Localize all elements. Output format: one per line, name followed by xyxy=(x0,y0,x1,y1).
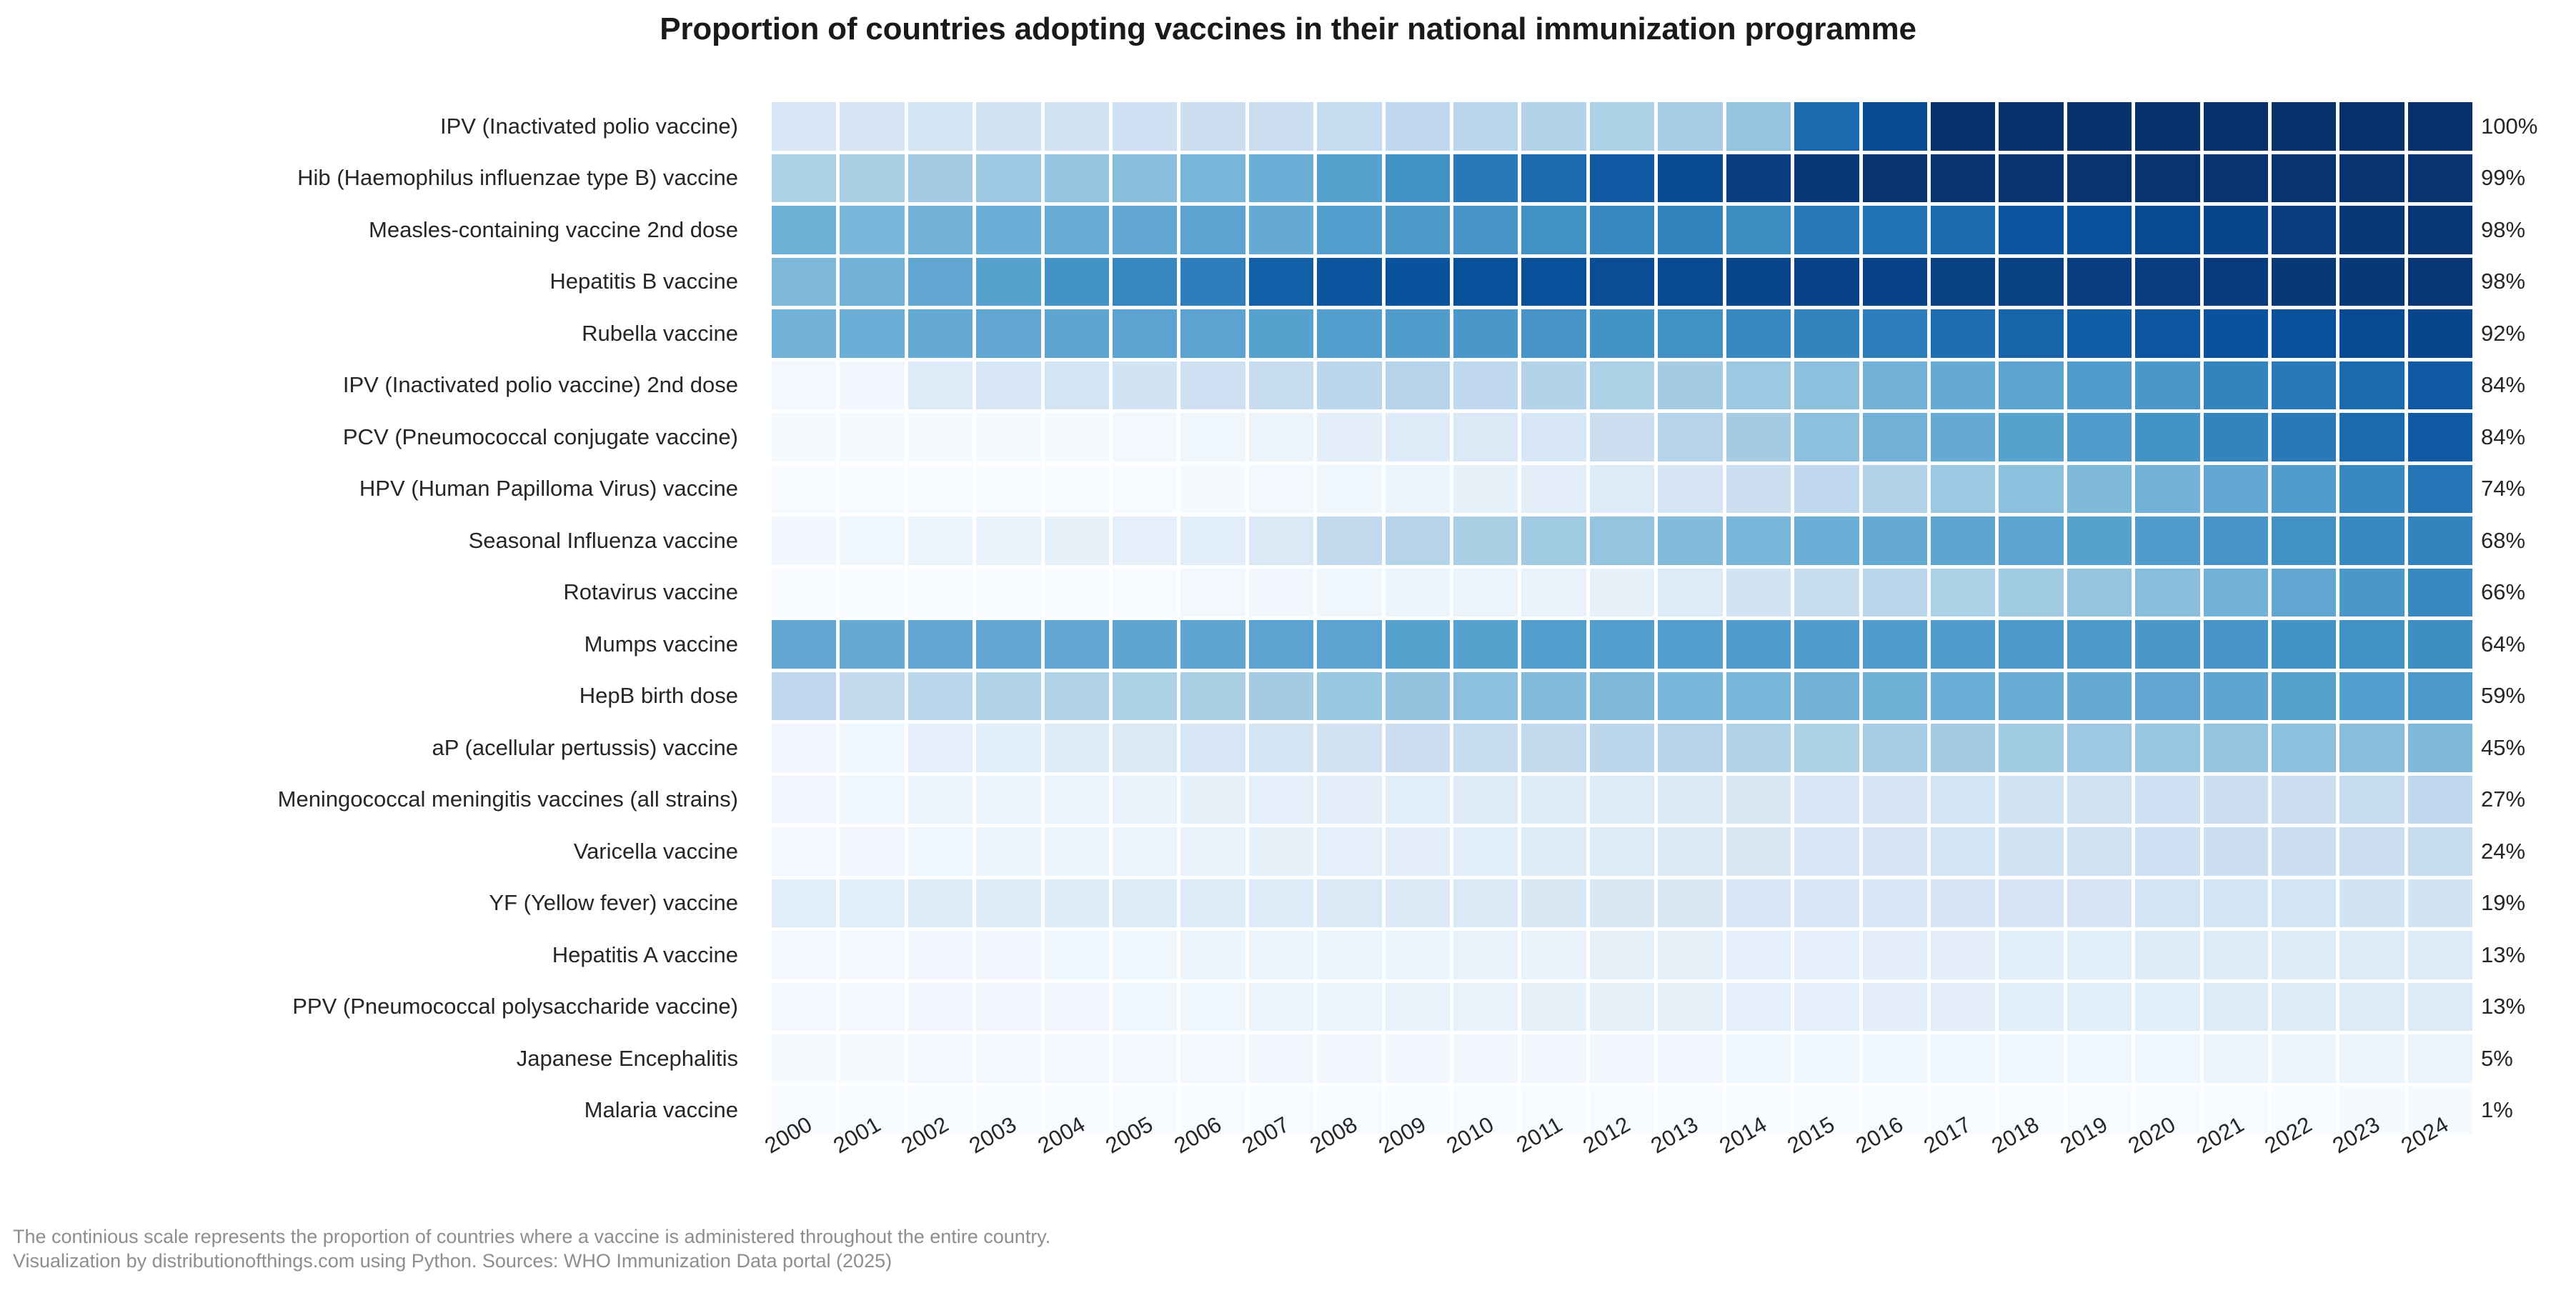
heatmap-cell[interactable] xyxy=(1453,672,1518,721)
heatmap-cell[interactable] xyxy=(2067,620,2132,669)
heatmap-cell[interactable] xyxy=(2135,569,2199,617)
heatmap-cell[interactable] xyxy=(2339,724,2404,772)
heatmap-cell[interactable] xyxy=(1726,879,1791,928)
heatmap-cell[interactable] xyxy=(1249,569,1313,617)
heatmap-cell[interactable] xyxy=(1726,620,1791,669)
heatmap-cell[interactable] xyxy=(1180,309,1245,358)
heatmap-cell[interactable] xyxy=(976,672,1040,721)
heatmap-cell[interactable] xyxy=(1453,361,1518,410)
heatmap-cell[interactable] xyxy=(2272,776,2336,824)
heatmap-cell[interactable] xyxy=(2408,413,2472,461)
heatmap-cell[interactable] xyxy=(1317,258,1381,306)
heatmap-cell[interactable] xyxy=(1113,309,1177,358)
heatmap-cell[interactable] xyxy=(1521,931,1586,979)
heatmap-cell[interactable] xyxy=(1726,154,1791,203)
heatmap-cell[interactable] xyxy=(1931,620,1995,669)
heatmap-cell[interactable] xyxy=(1453,776,1518,824)
heatmap-cell[interactable] xyxy=(2339,620,2404,669)
heatmap-cell[interactable] xyxy=(1794,361,1859,410)
heatmap-cell[interactable] xyxy=(1863,309,1927,358)
heatmap-cell[interactable] xyxy=(2272,620,2336,669)
heatmap-cell[interactable] xyxy=(1931,983,1995,1032)
heatmap-cell[interactable] xyxy=(2135,206,2199,254)
heatmap-cell[interactable] xyxy=(1317,620,1381,669)
heatmap-cell[interactable] xyxy=(840,516,904,565)
heatmap-cell[interactable] xyxy=(2408,465,2472,514)
heatmap-cell[interactable] xyxy=(1045,620,1109,669)
heatmap-cell[interactable] xyxy=(2339,206,2404,254)
heatmap-cell[interactable] xyxy=(1521,827,1586,876)
heatmap-cell[interactable] xyxy=(1999,413,2063,461)
heatmap-cell[interactable] xyxy=(1386,879,1450,928)
heatmap-cell[interactable] xyxy=(1113,827,1177,876)
heatmap-cell[interactable] xyxy=(1386,309,1450,358)
heatmap-cell[interactable] xyxy=(1931,309,1995,358)
heatmap-cell[interactable] xyxy=(840,102,904,151)
heatmap-cell[interactable] xyxy=(976,309,1040,358)
heatmap-cell[interactable] xyxy=(840,983,904,1032)
heatmap-cell[interactable] xyxy=(1590,206,1654,254)
heatmap-cell[interactable] xyxy=(1726,724,1791,772)
heatmap-cell[interactable] xyxy=(1999,879,2063,928)
heatmap-cell[interactable] xyxy=(1317,983,1381,1032)
heatmap-cell[interactable] xyxy=(1726,983,1791,1032)
heatmap-cell[interactable] xyxy=(1658,1034,1722,1083)
heatmap-cell[interactable] xyxy=(1045,879,1109,928)
heatmap-cell[interactable] xyxy=(2339,827,2404,876)
heatmap-cell[interactable] xyxy=(1521,879,1586,928)
heatmap-cell[interactable] xyxy=(908,724,973,772)
heatmap-cell[interactable] xyxy=(2408,672,2472,721)
heatmap-cell[interactable] xyxy=(2408,516,2472,565)
heatmap-cell[interactable] xyxy=(1999,983,2063,1032)
heatmap-cell[interactable] xyxy=(1453,620,1518,669)
heatmap-cell[interactable] xyxy=(1180,620,1245,669)
heatmap-cell[interactable] xyxy=(1386,1034,1450,1083)
heatmap-cell[interactable] xyxy=(1658,672,1722,721)
heatmap-cell[interactable] xyxy=(2067,569,2132,617)
heatmap-cell[interactable] xyxy=(840,465,904,514)
heatmap-cell[interactable] xyxy=(1931,413,1995,461)
heatmap-cell[interactable] xyxy=(976,569,1040,617)
heatmap-cell[interactable] xyxy=(2067,413,2132,461)
heatmap-cell[interactable] xyxy=(1386,154,1450,203)
heatmap-cell[interactable] xyxy=(2339,776,2404,824)
heatmap-cell[interactable] xyxy=(1863,931,1927,979)
heatmap-cell[interactable] xyxy=(1386,413,1450,461)
heatmap-cell[interactable] xyxy=(1317,516,1381,565)
heatmap-cell[interactable] xyxy=(2339,879,2404,928)
heatmap-cell[interactable] xyxy=(1045,931,1109,979)
heatmap-cell[interactable] xyxy=(1113,516,1177,565)
heatmap-cell[interactable] xyxy=(2339,102,2404,151)
heatmap-cell[interactable] xyxy=(1590,1034,1654,1083)
heatmap-cell[interactable] xyxy=(1386,827,1450,876)
heatmap-cell[interactable] xyxy=(2272,206,2336,254)
heatmap-cell[interactable] xyxy=(2408,361,2472,410)
heatmap-cell[interactable] xyxy=(1249,154,1313,203)
heatmap-cell[interactable] xyxy=(2339,1034,2404,1083)
heatmap-cell[interactable] xyxy=(1249,776,1313,824)
heatmap-cell[interactable] xyxy=(1863,206,1927,254)
heatmap-cell[interactable] xyxy=(976,983,1040,1032)
heatmap-cell[interactable] xyxy=(976,102,1040,151)
heatmap-cell[interactable] xyxy=(976,154,1040,203)
heatmap-cell[interactable] xyxy=(1863,465,1927,514)
heatmap-cell[interactable] xyxy=(2272,465,2336,514)
heatmap-cell[interactable] xyxy=(1658,154,1722,203)
heatmap-cell[interactable] xyxy=(1045,776,1109,824)
heatmap-cell[interactable] xyxy=(1113,206,1177,254)
heatmap-cell[interactable] xyxy=(1180,931,1245,979)
heatmap-cell[interactable] xyxy=(1386,931,1450,979)
heatmap-cell[interactable] xyxy=(1180,983,1245,1032)
heatmap-cell[interactable] xyxy=(1317,206,1381,254)
heatmap-cell[interactable] xyxy=(976,361,1040,410)
heatmap-cell[interactable] xyxy=(2204,983,2268,1032)
heatmap-cell[interactable] xyxy=(1794,724,1859,772)
heatmap-cell[interactable] xyxy=(2204,102,2268,151)
heatmap-cell[interactable] xyxy=(1658,465,1722,514)
heatmap-cell[interactable] xyxy=(1180,776,1245,824)
heatmap-cell[interactable] xyxy=(2204,361,2268,410)
heatmap-cell[interactable] xyxy=(2067,931,2132,979)
heatmap-cell[interactable] xyxy=(840,776,904,824)
heatmap-cell[interactable] xyxy=(840,1034,904,1083)
heatmap-cell[interactable] xyxy=(1931,879,1995,928)
heatmap-cell[interactable] xyxy=(1113,465,1177,514)
heatmap-cell[interactable] xyxy=(1249,258,1313,306)
heatmap-cell[interactable] xyxy=(1931,361,1995,410)
heatmap-cell[interactable] xyxy=(1180,724,1245,772)
heatmap-cell[interactable] xyxy=(2067,102,2132,151)
heatmap-cell[interactable] xyxy=(908,1034,973,1083)
heatmap-cell[interactable] xyxy=(1317,931,1381,979)
heatmap-cell[interactable] xyxy=(1045,309,1109,358)
heatmap-cell[interactable] xyxy=(1521,465,1586,514)
heatmap-cell[interactable] xyxy=(772,309,836,358)
heatmap-cell[interactable] xyxy=(1249,672,1313,721)
heatmap-cell[interactable] xyxy=(2408,931,2472,979)
heatmap-cell[interactable] xyxy=(1931,102,1995,151)
heatmap-cell[interactable] xyxy=(2272,879,2336,928)
heatmap-cell[interactable] xyxy=(1590,776,1654,824)
heatmap-cell[interactable] xyxy=(2272,1034,2336,1083)
heatmap-cell[interactable] xyxy=(1863,724,1927,772)
heatmap-cell[interactable] xyxy=(1386,516,1450,565)
heatmap-cell[interactable] xyxy=(1453,413,1518,461)
heatmap-cell[interactable] xyxy=(1863,361,1927,410)
heatmap-cell[interactable] xyxy=(1726,361,1791,410)
heatmap-cell[interactable] xyxy=(1863,620,1927,669)
heatmap-cell[interactable] xyxy=(772,879,836,928)
heatmap-cell[interactable] xyxy=(2204,879,2268,928)
heatmap-cell[interactable] xyxy=(1249,361,1313,410)
heatmap-cell[interactable] xyxy=(908,569,973,617)
heatmap-cell[interactable] xyxy=(2135,776,2199,824)
heatmap-cell[interactable] xyxy=(1386,776,1450,824)
heatmap-cell[interactable] xyxy=(1726,102,1791,151)
heatmap-cell[interactable] xyxy=(1113,879,1177,928)
heatmap-cell[interactable] xyxy=(2408,724,2472,772)
heatmap-cell[interactable] xyxy=(1863,879,1927,928)
heatmap-cell[interactable] xyxy=(908,258,973,306)
heatmap-cell[interactable] xyxy=(2135,672,2199,721)
heatmap-cell[interactable] xyxy=(1794,413,1859,461)
heatmap-cell[interactable] xyxy=(1249,206,1313,254)
heatmap-cell[interactable] xyxy=(1521,361,1586,410)
heatmap-cell[interactable] xyxy=(1658,776,1722,824)
heatmap-cell[interactable] xyxy=(908,672,973,721)
heatmap-cell[interactable] xyxy=(1453,1034,1518,1083)
heatmap-cell[interactable] xyxy=(2067,154,2132,203)
heatmap-cell[interactable] xyxy=(1453,309,1518,358)
heatmap-cell[interactable] xyxy=(2272,672,2336,721)
heatmap-cell[interactable] xyxy=(840,258,904,306)
heatmap-cell[interactable] xyxy=(1999,724,2063,772)
heatmap-cell[interactable] xyxy=(1113,1034,1177,1083)
heatmap-cell[interactable] xyxy=(2067,516,2132,565)
heatmap-cell[interactable] xyxy=(1931,1034,1995,1083)
heatmap-cell[interactable] xyxy=(1931,672,1995,721)
heatmap-cell[interactable] xyxy=(1726,258,1791,306)
heatmap-cell[interactable] xyxy=(1726,413,1791,461)
heatmap-cell[interactable] xyxy=(2272,258,2336,306)
heatmap-cell[interactable] xyxy=(1113,258,1177,306)
heatmap-cell[interactable] xyxy=(1794,569,1859,617)
heatmap-cell[interactable] xyxy=(1386,983,1450,1032)
heatmap-cell[interactable] xyxy=(1863,827,1927,876)
heatmap-cell[interactable] xyxy=(772,154,836,203)
heatmap-cell[interactable] xyxy=(1863,516,1927,565)
heatmap-cell[interactable] xyxy=(1999,620,2063,669)
heatmap-cell[interactable] xyxy=(1180,879,1245,928)
heatmap-cell[interactable] xyxy=(2408,827,2472,876)
heatmap-cell[interactable] xyxy=(772,931,836,979)
heatmap-cell[interactable] xyxy=(1180,206,1245,254)
heatmap-cell[interactable] xyxy=(2135,465,2199,514)
heatmap-cell[interactable] xyxy=(2135,361,2199,410)
heatmap-cell[interactable] xyxy=(1521,672,1586,721)
heatmap-cell[interactable] xyxy=(1113,931,1177,979)
heatmap-cell[interactable] xyxy=(1863,1034,1927,1083)
heatmap-cell[interactable] xyxy=(908,983,973,1032)
heatmap-cell[interactable] xyxy=(976,620,1040,669)
heatmap-cell[interactable] xyxy=(1180,361,1245,410)
heatmap-cell[interactable] xyxy=(1658,361,1722,410)
heatmap-cell[interactable] xyxy=(1863,102,1927,151)
heatmap-cell[interactable] xyxy=(1658,413,1722,461)
heatmap-cell[interactable] xyxy=(1726,672,1791,721)
heatmap-cell[interactable] xyxy=(1863,154,1927,203)
heatmap-cell[interactable] xyxy=(1045,569,1109,617)
heatmap-cell[interactable] xyxy=(1999,102,2063,151)
heatmap-cell[interactable] xyxy=(2408,569,2472,617)
heatmap-cell[interactable] xyxy=(1590,931,1654,979)
heatmap-cell[interactable] xyxy=(908,827,973,876)
heatmap-cell[interactable] xyxy=(1386,672,1450,721)
heatmap-cell[interactable] xyxy=(1249,620,1313,669)
heatmap-cell[interactable] xyxy=(1180,258,1245,306)
heatmap-cell[interactable] xyxy=(772,569,836,617)
heatmap-cell[interactable] xyxy=(2067,361,2132,410)
heatmap-cell[interactable] xyxy=(2204,413,2268,461)
heatmap-cell[interactable] xyxy=(1180,102,1245,151)
heatmap-cell[interactable] xyxy=(908,620,973,669)
heatmap-cell[interactable] xyxy=(1317,879,1381,928)
heatmap-cell[interactable] xyxy=(2339,465,2404,514)
heatmap-cell[interactable] xyxy=(1658,309,1722,358)
heatmap-cell[interactable] xyxy=(2408,206,2472,254)
heatmap-cell[interactable] xyxy=(908,776,973,824)
heatmap-cell[interactable] xyxy=(840,206,904,254)
heatmap-cell[interactable] xyxy=(1317,1034,1381,1083)
heatmap-cell[interactable] xyxy=(2339,516,2404,565)
heatmap-cell[interactable] xyxy=(1045,413,1109,461)
heatmap-cell[interactable] xyxy=(1521,413,1586,461)
heatmap-cell[interactable] xyxy=(2135,724,2199,772)
heatmap-cell[interactable] xyxy=(2135,620,2199,669)
heatmap-cell[interactable] xyxy=(1931,776,1995,824)
heatmap-cell[interactable] xyxy=(1794,672,1859,721)
heatmap-cell[interactable] xyxy=(1249,931,1313,979)
heatmap-cell[interactable] xyxy=(2135,154,2199,203)
heatmap-cell[interactable] xyxy=(1180,413,1245,461)
heatmap-cell[interactable] xyxy=(2067,1034,2132,1083)
heatmap-cell[interactable] xyxy=(1045,516,1109,565)
heatmap-cell[interactable] xyxy=(1453,827,1518,876)
heatmap-cell[interactable] xyxy=(2408,102,2472,151)
heatmap-cell[interactable] xyxy=(1590,258,1654,306)
heatmap-cell[interactable] xyxy=(1386,361,1450,410)
heatmap-cell[interactable] xyxy=(1045,724,1109,772)
heatmap-cell[interactable] xyxy=(2204,154,2268,203)
heatmap-cell[interactable] xyxy=(840,413,904,461)
heatmap-cell[interactable] xyxy=(2272,569,2336,617)
heatmap-cell[interactable] xyxy=(1794,309,1859,358)
heatmap-cell[interactable] xyxy=(1726,516,1791,565)
heatmap-cell[interactable] xyxy=(908,309,973,358)
heatmap-cell[interactable] xyxy=(772,672,836,721)
heatmap-cell[interactable] xyxy=(840,931,904,979)
heatmap-cell[interactable] xyxy=(2135,516,2199,565)
heatmap-cell[interactable] xyxy=(1249,102,1313,151)
heatmap-cell[interactable] xyxy=(1863,569,1927,617)
heatmap-cell[interactable] xyxy=(840,361,904,410)
heatmap-cell[interactable] xyxy=(1726,827,1791,876)
heatmap-cell[interactable] xyxy=(1658,827,1722,876)
heatmap-cell[interactable] xyxy=(840,724,904,772)
heatmap-cell[interactable] xyxy=(1317,413,1381,461)
heatmap-cell[interactable] xyxy=(2135,879,2199,928)
heatmap-cell[interactable] xyxy=(976,206,1040,254)
heatmap-cell[interactable] xyxy=(1317,724,1381,772)
heatmap-cell[interactable] xyxy=(1386,465,1450,514)
heatmap-cell[interactable] xyxy=(1317,309,1381,358)
heatmap-cell[interactable] xyxy=(1794,206,1859,254)
heatmap-cell[interactable] xyxy=(772,258,836,306)
heatmap-cell[interactable] xyxy=(1113,724,1177,772)
heatmap-cell[interactable] xyxy=(1386,620,1450,669)
heatmap-cell[interactable] xyxy=(1999,672,2063,721)
heatmap-cell[interactable] xyxy=(2204,827,2268,876)
heatmap-cell[interactable] xyxy=(1113,569,1177,617)
heatmap-cell[interactable] xyxy=(2135,931,2199,979)
heatmap-cell[interactable] xyxy=(1249,465,1313,514)
heatmap-cell[interactable] xyxy=(1931,154,1995,203)
heatmap-cell[interactable] xyxy=(772,465,836,514)
heatmap-cell[interactable] xyxy=(1113,983,1177,1032)
heatmap-cell[interactable] xyxy=(1794,1034,1859,1083)
heatmap-cell[interactable] xyxy=(908,516,973,565)
heatmap-cell[interactable] xyxy=(1999,827,2063,876)
heatmap-cell[interactable] xyxy=(2272,931,2336,979)
heatmap-cell[interactable] xyxy=(1590,102,1654,151)
heatmap-cell[interactable] xyxy=(1521,516,1586,565)
heatmap-cell[interactable] xyxy=(772,620,836,669)
heatmap-cell[interactable] xyxy=(2272,983,2336,1032)
heatmap-cell[interactable] xyxy=(1590,827,1654,876)
heatmap-cell[interactable] xyxy=(1726,1034,1791,1083)
heatmap-cell[interactable] xyxy=(1521,154,1586,203)
heatmap-cell[interactable] xyxy=(1590,879,1654,928)
heatmap-cell[interactable] xyxy=(1180,569,1245,617)
heatmap-cell[interactable] xyxy=(2339,672,2404,721)
heatmap-cell[interactable] xyxy=(1453,516,1518,565)
heatmap-cell[interactable] xyxy=(772,827,836,876)
heatmap-cell[interactable] xyxy=(2272,827,2336,876)
heatmap-cell[interactable] xyxy=(2408,620,2472,669)
heatmap-cell[interactable] xyxy=(1590,983,1654,1032)
heatmap-cell[interactable] xyxy=(1931,206,1995,254)
heatmap-cell[interactable] xyxy=(1590,413,1654,461)
heatmap-cell[interactable] xyxy=(772,724,836,772)
heatmap-cell[interactable] xyxy=(1999,569,2063,617)
heatmap-cell[interactable] xyxy=(1249,827,1313,876)
heatmap-cell[interactable] xyxy=(976,258,1040,306)
heatmap-cell[interactable] xyxy=(1863,258,1927,306)
heatmap-cell[interactable] xyxy=(1180,154,1245,203)
heatmap-cell[interactable] xyxy=(1045,258,1109,306)
heatmap-cell[interactable] xyxy=(976,931,1040,979)
heatmap-cell[interactable] xyxy=(1590,154,1654,203)
heatmap-cell[interactable] xyxy=(1521,569,1586,617)
heatmap-cell[interactable] xyxy=(1453,983,1518,1032)
heatmap-cell[interactable] xyxy=(1999,1034,2063,1083)
heatmap-cell[interactable] xyxy=(976,465,1040,514)
heatmap-cell[interactable] xyxy=(772,413,836,461)
heatmap-cell[interactable] xyxy=(2204,465,2268,514)
heatmap-cell[interactable] xyxy=(1794,258,1859,306)
heatmap-cell[interactable] xyxy=(1658,983,1722,1032)
heatmap-cell[interactable] xyxy=(1794,154,1859,203)
heatmap-cell[interactable] xyxy=(1999,465,2063,514)
heatmap-cell[interactable] xyxy=(1931,569,1995,617)
heatmap-cell[interactable] xyxy=(2204,569,2268,617)
heatmap-cell[interactable] xyxy=(2408,258,2472,306)
heatmap-cell[interactable] xyxy=(1521,620,1586,669)
heatmap-cell[interactable] xyxy=(1658,258,1722,306)
heatmap-cell[interactable] xyxy=(2067,206,2132,254)
heatmap-cell[interactable] xyxy=(908,879,973,928)
heatmap-cell[interactable] xyxy=(2135,102,2199,151)
heatmap-cell[interactable] xyxy=(1317,102,1381,151)
heatmap-cell[interactable] xyxy=(1999,361,2063,410)
heatmap-cell[interactable] xyxy=(2272,309,2336,358)
heatmap-cell[interactable] xyxy=(1794,879,1859,928)
heatmap-cell[interactable] xyxy=(1453,724,1518,772)
heatmap-cell[interactable] xyxy=(1863,672,1927,721)
